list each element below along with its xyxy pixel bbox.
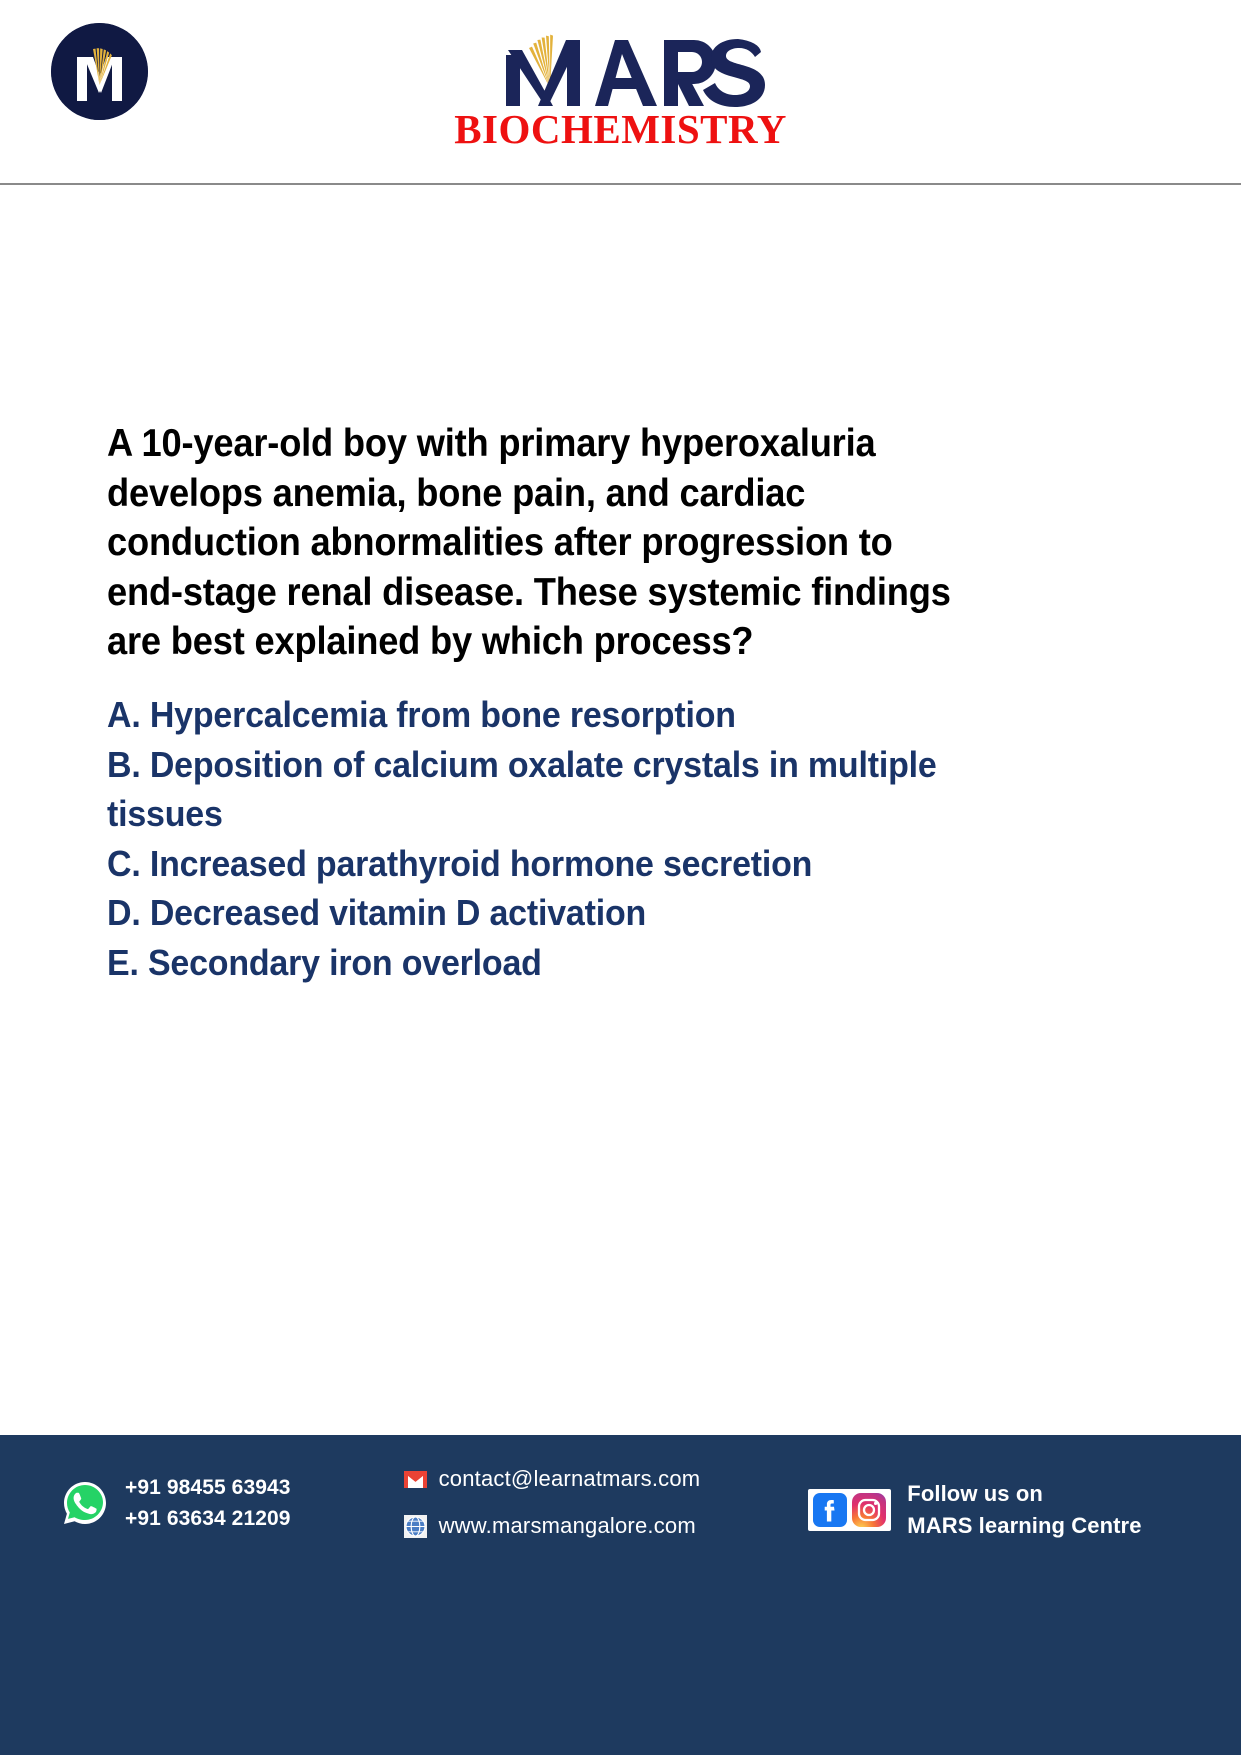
whatsapp-icon [62,1480,108,1526]
page-footer: +91 98455 63943 +91 63634 21209 contact@… [0,1435,1241,1755]
option-e[interactable]: E. Secondary iron overload [107,938,981,988]
email-text[interactable]: contact@learnatmars.com [439,1466,701,1492]
page-subtitle: BIOCHEMISTRY [0,109,1241,150]
phone-number-2[interactable]: +91 63634 21209 [125,1503,291,1534]
footer-contact-block: contact@learnatmars.com www.marsmangalor… [403,1462,701,1543]
page-header: BIOCHEMISTRY [0,0,1241,185]
website-text[interactable]: www.marsmangalore.com [439,1513,696,1539]
facebook-icon [813,1493,847,1527]
mars-wordmark [476,18,766,110]
phone-numbers: +91 98455 63943 +91 63634 21209 [125,1472,291,1534]
phone-number-1[interactable]: +91 98455 63943 [125,1472,291,1503]
footer-phone-block: +91 98455 63943 +91 63634 21209 [62,1472,291,1534]
website-row[interactable]: www.marsmangalore.com [403,1509,701,1543]
email-row[interactable]: contact@learnatmars.com [403,1462,701,1496]
follow-text: Follow us on MARS learning Centre [907,1478,1141,1542]
option-d[interactable]: D. Decreased vitamin D activation [107,888,981,938]
option-b[interactable]: B. Deposition of calcium oxalate crystal… [107,740,981,839]
brand-center: BIOCHEMISTRY [0,18,1241,150]
answer-options-list: A. Hypercalcemia from bone resorption B.… [107,690,981,987]
main-content: A 10-year-old boy with primary hyperoxal… [0,185,1241,1435]
globe-icon [403,1514,428,1539]
option-c[interactable]: C. Increased parathyroid hormone secreti… [107,839,981,889]
option-a[interactable]: A. Hypercalcemia from bone resorption [107,690,981,740]
follow-line-2: MARS learning Centre [907,1510,1141,1542]
footer-social-block: Follow us on MARS learning Centre [808,1478,1141,1542]
question-text: A 10-year-old boy with primary hyperoxal… [107,419,963,667]
follow-line-1: Follow us on [907,1478,1141,1510]
gmail-icon [403,1467,428,1492]
social-icon-group[interactable] [808,1489,891,1531]
instagram-icon [852,1493,886,1527]
